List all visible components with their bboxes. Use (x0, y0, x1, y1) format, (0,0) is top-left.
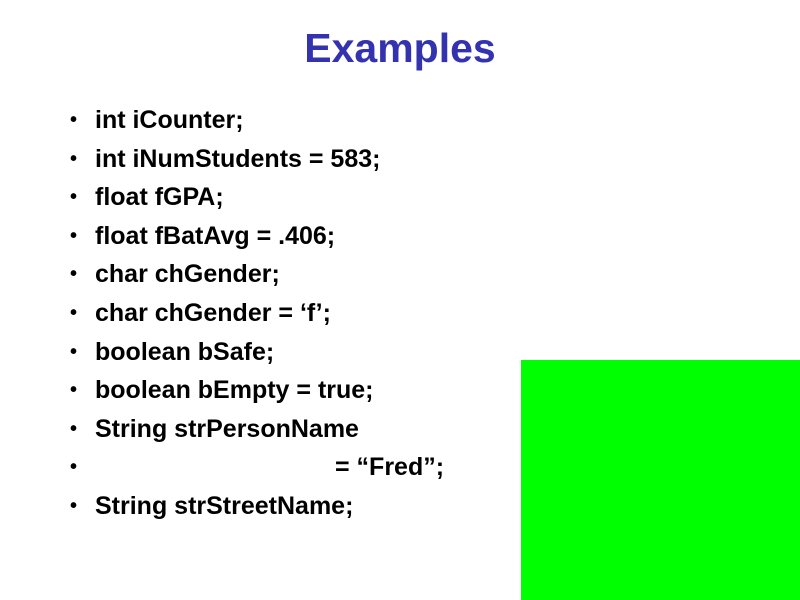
bullet-point-icon: • (70, 217, 94, 256)
list-item-label: boolean bEmpty = true; (95, 371, 374, 410)
list-item-label: float fGPA; (95, 178, 224, 217)
list-item: •= “Fred”; (70, 448, 540, 487)
bullet-point-icon: • (70, 178, 94, 217)
bullet-point-icon: • (70, 333, 94, 372)
bullet-point-icon: • (70, 101, 94, 140)
bullet-point-icon: • (70, 371, 94, 410)
list-item-label: = “Fred”; (335, 448, 444, 487)
list-item: •int iCounter; (70, 101, 540, 140)
bullet-point-icon: • (70, 448, 94, 487)
list-item-label: String strPersonName (95, 410, 359, 449)
bullet-point-icon: • (70, 140, 94, 179)
list-item: •float fBatAvg = .406; (70, 217, 540, 256)
bullet-point-icon: • (70, 255, 94, 294)
list-item: •char chGender; (70, 255, 540, 294)
list-item-label: float fBatAvg = .406; (95, 217, 335, 256)
slide-canvas: Examples •int iCounter;•int iNumStudents… (0, 0, 800, 600)
list-item: •int iNumStudents = 583; (70, 140, 540, 179)
bullet-point-icon: • (70, 410, 94, 449)
list-item: •String strPersonName (70, 410, 540, 449)
list-item: •String strStreetName; (70, 487, 540, 526)
list-item: •float fGPA; (70, 178, 540, 217)
list-item: •char chGender = ‘f’; (70, 294, 540, 333)
green-decorative-rectangle (521, 360, 800, 600)
list-item-label: char chGender = ‘f’; (95, 294, 331, 333)
list-item-label: boolean bSafe; (95, 333, 274, 372)
list-item-label: int iCounter; (95, 101, 244, 140)
bullet-list: •int iCounter;•int iNumStudents = 583;•f… (70, 101, 540, 526)
bullet-point-icon: • (70, 294, 94, 333)
list-item: •boolean bEmpty = true; (70, 371, 540, 410)
list-item: •boolean bSafe; (70, 333, 540, 372)
list-item-label: String strStreetName; (95, 487, 353, 526)
list-item-label: int iNumStudents = 583; (95, 140, 380, 179)
page-title: Examples (0, 25, 800, 71)
bullet-point-icon: • (70, 487, 94, 526)
list-item-label: char chGender; (95, 255, 280, 294)
